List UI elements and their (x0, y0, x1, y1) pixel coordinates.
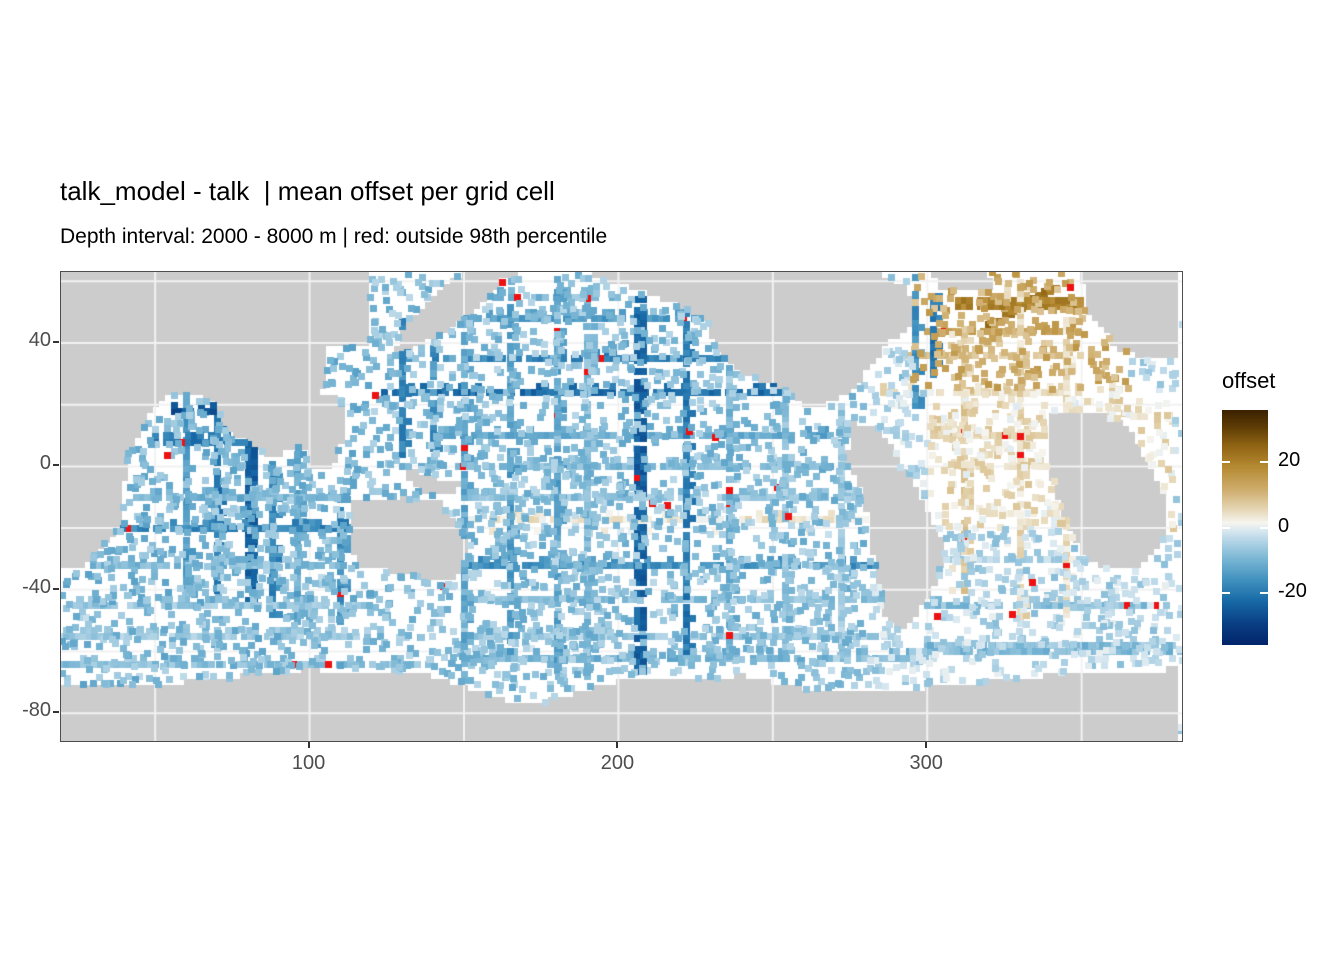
legend-tick-mark (1222, 461, 1230, 463)
legend-tick-mark (1260, 592, 1268, 594)
legend-tick-label: 20 (1278, 449, 1300, 472)
y-tick-mark (53, 341, 59, 343)
x-tick-mark (308, 742, 310, 748)
legend-tick-mark (1260, 461, 1268, 463)
legend-tick-mark (1222, 527, 1230, 529)
legend-tick-mark (1260, 527, 1268, 529)
y-tick-mark (53, 464, 59, 466)
map-panel (60, 271, 1183, 742)
x-tick-label: 200 (557, 752, 677, 775)
x-tick-mark (925, 742, 927, 748)
legend-tick-mark (1222, 592, 1230, 594)
legend-tick-label: 0 (1278, 515, 1289, 538)
legend-tick-label: -20 (1278, 580, 1307, 603)
ocean-offset-heatmap (61, 272, 1182, 741)
x-tick-mark (616, 742, 618, 748)
plot-root: talk_model - talk | mean offset per grid… (0, 0, 1344, 960)
y-tick-label: -40 (22, 576, 51, 599)
y-tick-label: 0 (40, 452, 51, 475)
y-tick-mark (53, 711, 59, 713)
x-tick-label: 100 (249, 752, 369, 775)
y-tick-label: 40 (29, 329, 51, 352)
x-tick-label: 300 (866, 752, 986, 775)
legend-title: offset (1222, 368, 1275, 394)
plot-subtitle: Depth interval: 2000 - 8000 m | red: out… (60, 224, 607, 249)
y-tick-label: -80 (22, 699, 51, 722)
page-title: talk_model - talk | mean offset per grid… (60, 176, 555, 206)
y-tick-mark (53, 588, 59, 590)
